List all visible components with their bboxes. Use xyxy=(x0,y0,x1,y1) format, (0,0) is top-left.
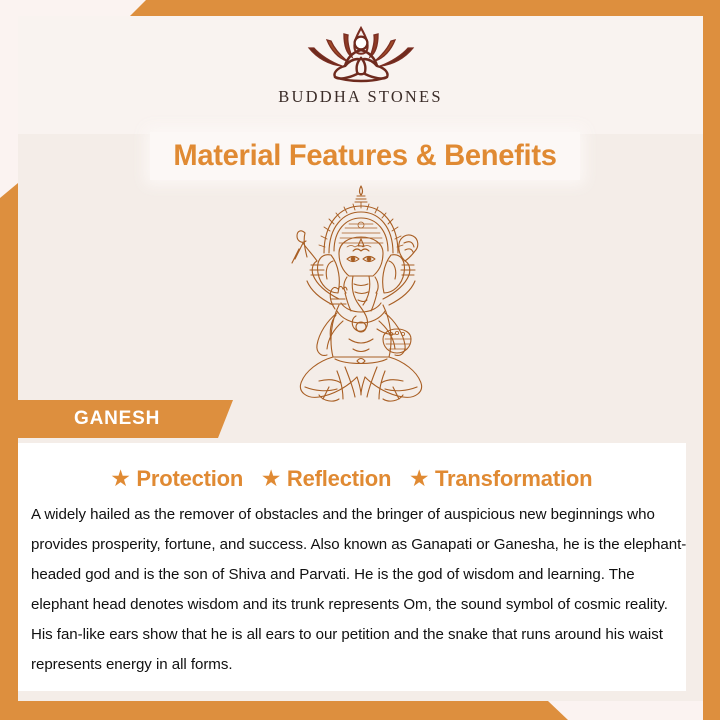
brand-logo-group: BUDDHA STONES xyxy=(18,22,703,107)
lotus-meditation-icon xyxy=(287,22,435,84)
description-text: A widely hailed as the remover of obstac… xyxy=(31,500,691,680)
star-icon: ★ xyxy=(410,469,428,489)
benefit-label: Transformation xyxy=(435,466,592,492)
ganesh-line-art-illustration xyxy=(261,181,461,409)
product-feature-poster: BUDDHA STONES Material Features & Benefi… xyxy=(0,0,720,720)
brand-header: BUDDHA STONES xyxy=(18,16,703,134)
decorative-bottom-bar xyxy=(0,701,720,720)
star-icon: ★ xyxy=(112,469,130,489)
benefit-label: Reflection xyxy=(287,466,391,492)
benefits-list: ★ Protection ★ Reflection ★ Transformati… xyxy=(18,466,686,492)
decorative-top-bar xyxy=(0,0,720,16)
benefit-item-reflection: ★ Reflection xyxy=(262,466,391,492)
decorative-left-bar xyxy=(0,0,18,720)
star-icon: ★ xyxy=(262,469,280,489)
benefit-item-transformation: ★ Transformation xyxy=(410,466,592,492)
page-title: Material Features & Benefits xyxy=(156,132,573,180)
decorative-right-bar xyxy=(703,0,720,720)
deity-illustration-area xyxy=(18,180,703,410)
deity-name-label: GANESH xyxy=(18,400,233,438)
benefit-item-protection: ★ Protection xyxy=(112,466,244,492)
brand-name: BUDDHA STONES xyxy=(278,87,442,107)
benefit-label: Protection xyxy=(136,466,243,492)
